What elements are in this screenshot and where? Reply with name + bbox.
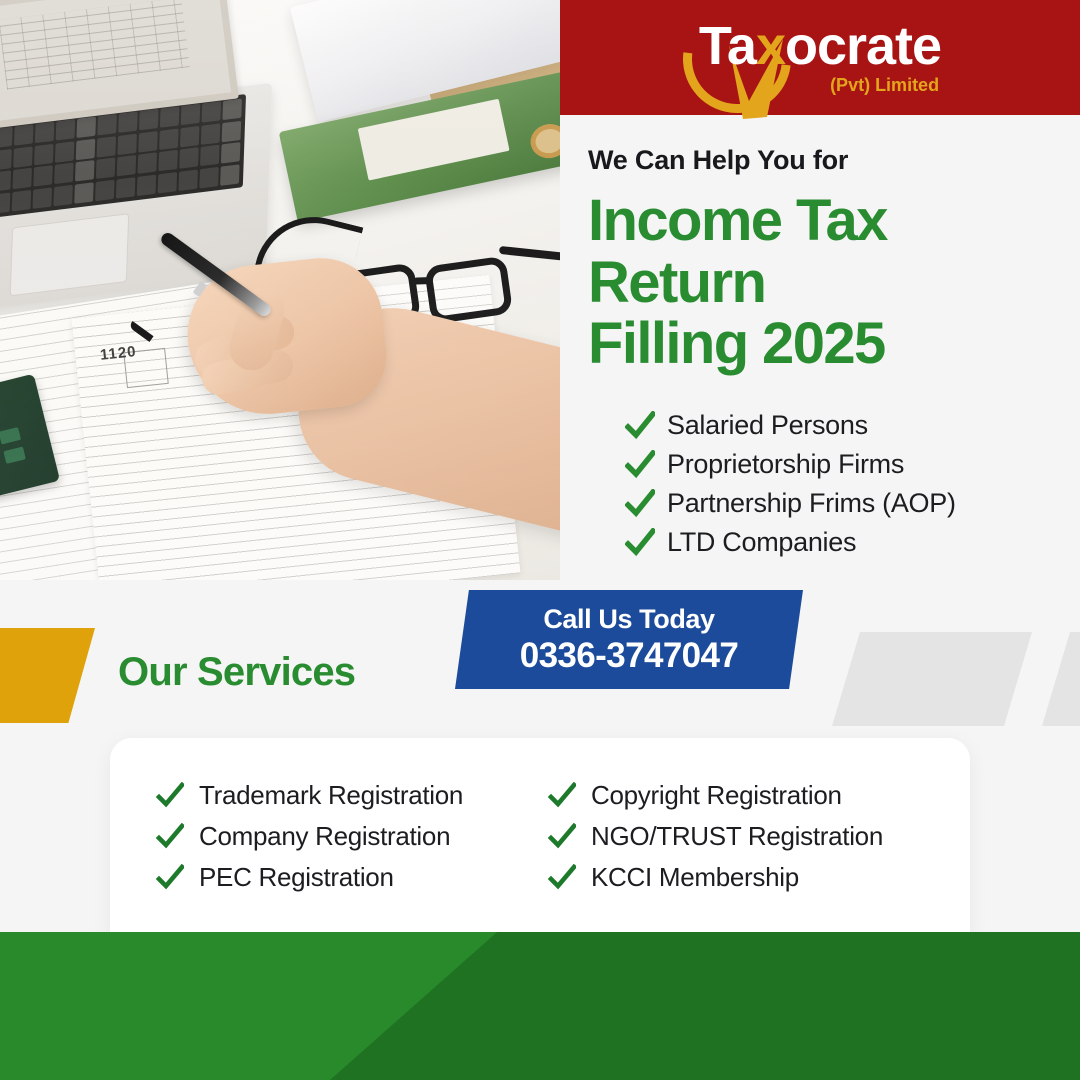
service-label: KCCI Membership bbox=[591, 862, 799, 893]
logo-wordmark-part1: Ta bbox=[699, 16, 756, 76]
hero-photo-scene: 1120 bbox=[0, 0, 560, 580]
check-icon bbox=[625, 411, 655, 441]
hero-headline-line-3: Filling 2025 bbox=[588, 313, 1068, 374]
hero-headline-line-2: Return bbox=[588, 252, 1068, 313]
hero-bullet-label: Proprietorship Firms bbox=[667, 449, 904, 480]
check-icon bbox=[548, 782, 576, 810]
logo[interactable]: Taxocrate (Pvt) Limited bbox=[699, 19, 941, 96]
check-icon bbox=[625, 450, 655, 480]
decor-green-wedge bbox=[330, 932, 1080, 1080]
decor-gray-parallelogram-1 bbox=[832, 632, 1032, 726]
hero-bullet-list: Salaried Persons Proprietorship Firms Pa… bbox=[625, 410, 1055, 558]
poster-canvas: 1120 bbox=[0, 0, 1080, 1080]
logo-wordmark-part2: ocrate bbox=[785, 16, 941, 76]
list-item: KCCI Membership bbox=[548, 862, 924, 893]
photo-overlay bbox=[0, 0, 560, 580]
phone-number[interactable]: 0336-3747047 bbox=[520, 636, 739, 676]
logo-wordmark-x: x bbox=[756, 16, 785, 76]
logo-subtitle: (Pvt) Limited bbox=[830, 75, 939, 96]
list-item: NGO/TRUST Registration bbox=[548, 821, 924, 852]
hero-bullet-label: Partnership Frims (AOP) bbox=[667, 488, 956, 519]
logo-wordmark: Taxocrate bbox=[699, 19, 941, 73]
service-label: Company Registration bbox=[199, 821, 450, 852]
check-icon bbox=[548, 823, 576, 851]
list-item: PEC Registration bbox=[156, 862, 528, 893]
hero-headline-line-1: Income Tax bbox=[588, 190, 1068, 251]
footer-green-band bbox=[0, 932, 1080, 1080]
check-icon bbox=[156, 823, 184, 851]
hero-headline: Income Tax Return Filling 2025 bbox=[588, 190, 1068, 374]
call-us-banner[interactable]: Call Us Today 0336-3747047 bbox=[455, 590, 803, 689]
list-item: LTD Companies bbox=[625, 527, 1055, 558]
list-item: Copyright Registration bbox=[548, 780, 924, 811]
list-item: Salaried Persons bbox=[625, 410, 1055, 441]
hero-bullet-label: LTD Companies bbox=[667, 527, 856, 558]
service-label: NGO/TRUST Registration bbox=[591, 821, 883, 852]
list-item: Partnership Frims (AOP) bbox=[625, 488, 1055, 519]
list-item: Proprietorship Firms bbox=[625, 449, 1055, 480]
hero-eyebrow: We Can Help You for bbox=[588, 145, 1068, 176]
service-label: Copyright Registration bbox=[591, 780, 842, 811]
list-item: Company Registration bbox=[156, 821, 528, 852]
hero-text-block: We Can Help You for Income Tax Return Fi… bbox=[588, 145, 1068, 374]
brand-header: Taxocrate (Pvt) Limited bbox=[560, 0, 1080, 115]
hero-bullet-label: Salaried Persons bbox=[667, 410, 868, 441]
list-item: Trademark Registration bbox=[156, 780, 528, 811]
service-label: Trademark Registration bbox=[199, 780, 463, 811]
hero-photo: 1120 bbox=[0, 0, 560, 580]
check-icon bbox=[156, 864, 184, 892]
service-label: PEC Registration bbox=[199, 862, 394, 893]
call-us-title: Call Us Today bbox=[543, 604, 714, 635]
check-icon bbox=[156, 782, 184, 810]
services-heading: Our Services bbox=[118, 650, 355, 695]
check-icon bbox=[625, 528, 655, 558]
check-icon bbox=[548, 864, 576, 892]
services-grid: Trademark Registration Copyright Registr… bbox=[156, 780, 924, 893]
services-card: Trademark Registration Copyright Registr… bbox=[110, 738, 970, 953]
check-icon bbox=[625, 489, 655, 519]
